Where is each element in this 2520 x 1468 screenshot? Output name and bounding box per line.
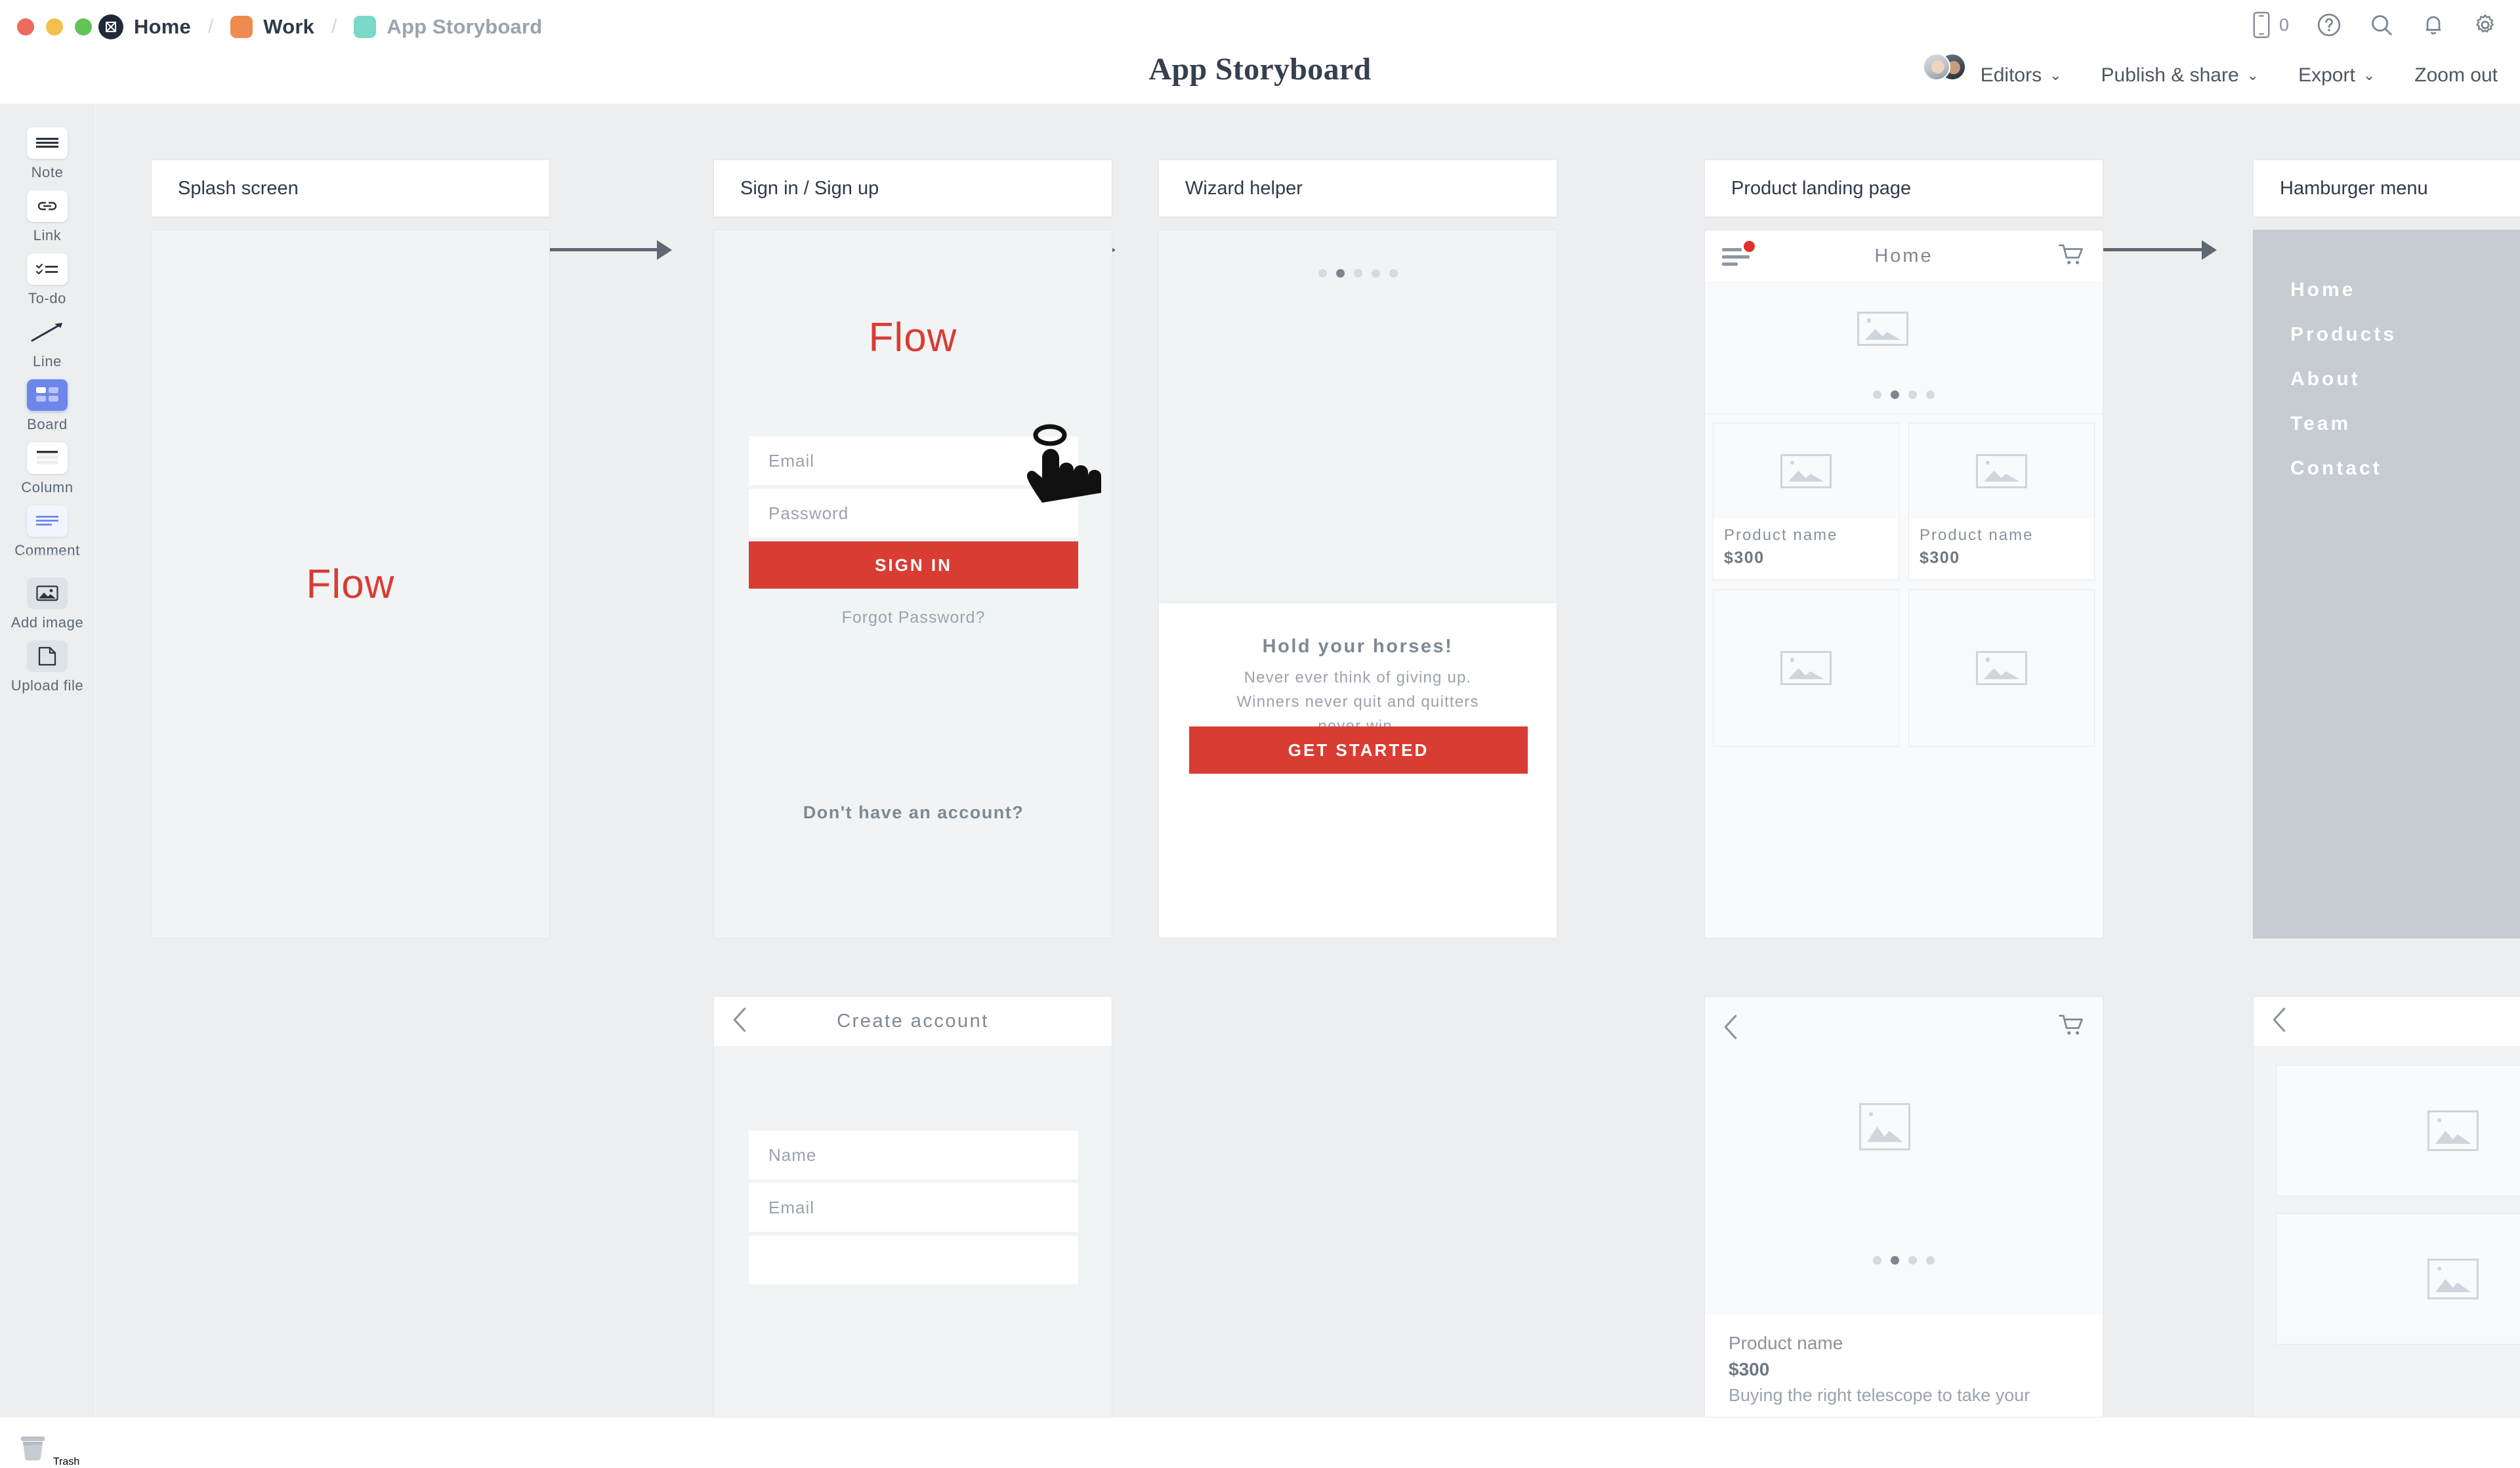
folder-square-icon [230,16,253,38]
sign-in-button[interactable]: SIGN IN [749,541,1078,589]
search-icon[interactable] [2369,12,2394,37]
image-placeholder-icon [1976,651,2027,685]
hamburger-menu-links: Home Products About Team Contact [2290,279,2397,480]
note-icon [27,127,68,159]
sidebar-label-comment: Comment [14,542,80,558]
wizard-bottom-sheet: Hold your horses! Never ever think of gi… [1159,602,1557,938]
notification-dot-icon [1744,241,1755,252]
avatar-group [1923,62,1966,89]
landing-carousel-dots[interactable] [1705,390,2103,399]
board-square-icon [354,16,376,38]
cart-line-item[interactable] [2276,1213,2520,1345]
product-name: Product name [1724,526,1888,545]
breadcrumb-label-app-storyboard: App Storyboard [387,15,542,39]
board-icon [27,379,68,411]
email-input[interactable]: Email [749,1183,1078,1232]
shopping-cart-icon[interactable] [2058,1014,2086,1039]
product-detail-gallery[interactable] [1705,997,2103,1314]
sidebar-label-upload-file: Upload file [11,677,84,694]
card-title-wizard-helper[interactable]: Wizard helper [1158,159,1557,217]
carousel-dot[interactable] [1908,1256,1917,1265]
sidebar-label-todo: To-do [28,290,66,306]
forgot-password-label: Forgot Password? [842,608,986,627]
name-placeholder: Name [768,1145,816,1165]
email-placeholder: Email [768,1198,814,1218]
frame-cart-screen[interactable]: C [2253,996,2520,1417]
menu-link-contact[interactable]: Contact [2290,457,2397,480]
signup-prompt-label: Don't have an account? [803,803,1024,822]
get-started-button[interactable]: GET STARTED [1189,726,1528,774]
product-card[interactable]: Product name $300 [1713,423,1899,580]
breadcrumb-label-home: Home [134,15,191,39]
sidebar-item-upload-file[interactable]: Upload file [0,640,94,694]
sidebar-label-note: Note [31,164,64,180]
sidebar-item-todo[interactable]: To-do [0,253,94,307]
sidebar-label-board: Board [27,416,68,432]
sidebar-label-column: Column [21,479,73,495]
create-account-title: Create account [731,1011,1095,1032]
header-menu: Editors⌄ Publish & share⌄ Export⌄ Zoom o… [1923,62,2498,89]
product-card[interactable]: Product name $300 [1908,423,2095,580]
breadcrumb-item-home[interactable]: Home [98,14,191,39]
frame-create-account[interactable]: Create account Name Email [713,996,1112,1417]
carousel-dot[interactable] [1873,1256,1881,1265]
step-dot[interactable] [1372,269,1380,278]
tool-sidebar: Note Link To-do Line Board Column [0,104,94,1417]
step-dot[interactable] [1354,269,1362,278]
product-price: $300 [1920,549,2084,568]
maximize-window-button[interactable] [75,18,92,35]
frame-product-landing[interactable]: Home Product name [1704,230,2103,938]
menu-link-about[interactable]: About [2290,368,2397,390]
product-price: $300 [1724,549,1888,568]
sidebar-item-add-image[interactable]: Add image [0,577,94,631]
landing-nav-title: Home [1750,245,2058,267]
sign-in-button-label: SIGN IN [875,555,952,576]
product-detail-info: Product name $300 Buying the right teles… [1705,1314,2103,1417]
carousel-dot[interactable] [1908,390,1917,399]
wizard-step-dots[interactable] [1159,269,1557,278]
image-placeholder-icon [2427,1110,2479,1151]
chevron-down-icon: ⌄ [2363,67,2375,84]
get-started-label: GET STARTED [1288,740,1429,761]
wizard-heading: Hold your horses! [1159,636,1557,658]
window-traffic-lights [17,18,92,35]
avatar [1923,53,1950,81]
connector-arrow [2202,240,2217,260]
product-detail-description: Buying the right telescope to take your [1729,1385,2079,1406]
zoom-out-label: Zoom out [2414,64,2498,87]
product-name: Product name [1920,526,2084,545]
frame-product-detail[interactable]: Product name $300 Buying the right teles… [1704,996,2103,1417]
link-icon [27,190,68,222]
card-title-text: Sign in / Sign up [740,178,879,199]
breadcrumb-item-work[interactable]: Work [230,15,314,39]
line-arrow-icon [27,316,68,348]
image-placeholder-icon [1859,1103,1910,1150]
trash-label: Trash [53,1456,79,1467]
password-input[interactable] [749,1236,1078,1284]
forgot-password-link[interactable]: Forgot Password? [749,608,1078,627]
step-dot[interactable] [1389,269,1398,278]
card-title-sign-in[interactable]: Sign in / Sign up [713,159,1112,217]
frame-sign-in[interactable]: Flow Email Password SIGN IN Forgot Passw… [713,230,1112,938]
chevron-down-icon: ⌄ [2247,67,2259,84]
frame-splash-screen[interactable]: Flow [151,230,550,938]
sidebar-item-comment[interactable]: Comment [0,505,94,559]
hamburger-menu-icon[interactable] [1722,247,1750,266]
chevron-down-icon: ⌄ [2049,67,2061,84]
landing-hero-carousel[interactable] [1705,283,2103,414]
mobile-preview-count: 0 [2279,15,2289,35]
breadcrumb-separator: / [208,16,213,38]
carousel-dot-active[interactable] [1891,1256,1899,1265]
card-title-text: Product landing page [1731,178,1911,199]
carousel-dot[interactable] [1926,390,1935,399]
menu-link-home[interactable]: Home [2290,279,2397,301]
menu-link-team[interactable]: Team [2290,413,2397,435]
settings-gear-icon[interactable] [2473,12,2498,37]
step-dot[interactable] [1318,269,1327,278]
name-input[interactable]: Name [749,1131,1078,1179]
signin-logo: Flow [869,315,957,360]
card-title-hamburger-menu[interactable]: Hamburger menu [2253,159,2520,217]
sidebar-label-link: Link [33,227,62,243]
cart-title: C [2288,1011,2520,1032]
comment-icon [27,505,68,537]
sidebar-item-line[interactable]: Line [0,316,94,370]
editors-label: Editors [1981,64,2042,87]
image-placeholder-icon [1976,454,2027,488]
sidebar-label-add-image: Add image [11,614,84,631]
product-detail-name: Product name [1729,1333,2079,1354]
sidebar-divider [21,554,73,555]
sidebar-item-column[interactable]: Column [0,442,94,496]
email-placeholder: Email [768,451,814,471]
cart-line-item[interactable] [2276,1065,2520,1196]
landing-nav-bar: Home [1705,230,2103,283]
export-menu[interactable]: Export⌄ [2298,64,2375,87]
cart-nav-bar: C [2254,997,2520,1047]
image-placeholder-icon [1857,312,1908,346]
breadcrumb: Home / Work / App Storyboard [98,14,542,39]
publish-and-share-label: Publish & share [2101,64,2239,87]
breadcrumb-label-work: Work [263,15,314,39]
create-account-nav-bar: Create account [714,997,1112,1047]
upload-file-icon [27,640,68,672]
product-card[interactable] [1713,589,1899,747]
sidebar-item-note[interactable]: Note [0,127,94,181]
add-image-icon [27,577,68,609]
product-detail-price: $300 [1729,1359,2079,1380]
signup-prompt-link[interactable]: Don't have an account? [749,803,1078,823]
product-grid: Product name $300 Product name $300 [1705,415,2103,755]
publish-and-share-menu[interactable]: Publish & share⌄ [2101,64,2259,87]
minimize-window-button[interactable] [46,18,63,35]
image-placeholder-icon [1780,454,1832,488]
todo-icon [27,253,68,285]
sidebar-item-board[interactable]: Board [0,379,94,433]
product-detail-carousel-dots[interactable] [1705,1256,2103,1265]
close-window-button[interactable] [17,18,34,35]
export-label: Export [2298,64,2355,87]
card-title-text: Hamburger menu [2280,178,2428,199]
card-title-splash-screen[interactable]: Splash screen [151,159,550,217]
connector-arrow [657,240,672,260]
trash-icon [15,1456,53,1467]
splash-logo: Flow [306,561,395,608]
chevron-left-icon[interactable] [2271,1007,2288,1036]
password-placeholder: Password [768,503,849,524]
help-icon[interactable] [2317,12,2341,37]
card-title-text: Wizard helper [1185,178,1303,199]
sidebar-item-link[interactable]: Link [0,190,94,244]
card-title-text: Splash screen [178,178,299,199]
image-placeholder-icon [1780,651,1832,685]
frame-hamburger-menu[interactable]: Home Products About Team Contact [2253,230,2520,938]
trash-button[interactable]: Trash [0,1429,94,1468]
chevron-left-icon[interactable] [1722,1014,1739,1043]
shopping-cart-icon[interactable] [2058,243,2086,269]
frame-wizard-helper[interactable]: Hold your horses! Never ever think of gi… [1158,230,1557,938]
milanote-logo-icon [98,14,123,39]
zoom-out-button[interactable]: Zoom out [2414,64,2498,87]
breadcrumb-item-app-storyboard[interactable]: App Storyboard [354,15,542,39]
image-placeholder-icon [2427,1259,2479,1299]
menu-link-products[interactable]: Products [2290,324,2397,346]
editors-menu[interactable]: Editors⌄ [1923,62,2062,89]
column-icon [27,442,68,474]
carousel-dot[interactable] [1873,390,1881,399]
header-icon-group: 0 [2252,10,2498,39]
carousel-dot[interactable] [1926,1256,1935,1265]
top-bar: Home / Work / App Storyboard App Storybo… [0,0,2520,104]
notifications-bell-icon[interactable] [2422,12,2445,37]
mobile-preview-icon[interactable]: 0 [2252,10,2289,39]
sidebar-label-line: Line [33,353,62,369]
card-title-product-landing[interactable]: Product landing page [1704,159,2103,217]
step-dot-active[interactable] [1336,269,1345,278]
product-card[interactable] [1908,589,2095,747]
carousel-dot-active[interactable] [1891,390,1899,399]
breadcrumb-separator: / [331,16,337,38]
board-canvas[interactable]: 0 Unsorted Splash screen Flow Sign in / … [95,104,2520,1417]
hand-cursor-icon [1022,424,1101,506]
